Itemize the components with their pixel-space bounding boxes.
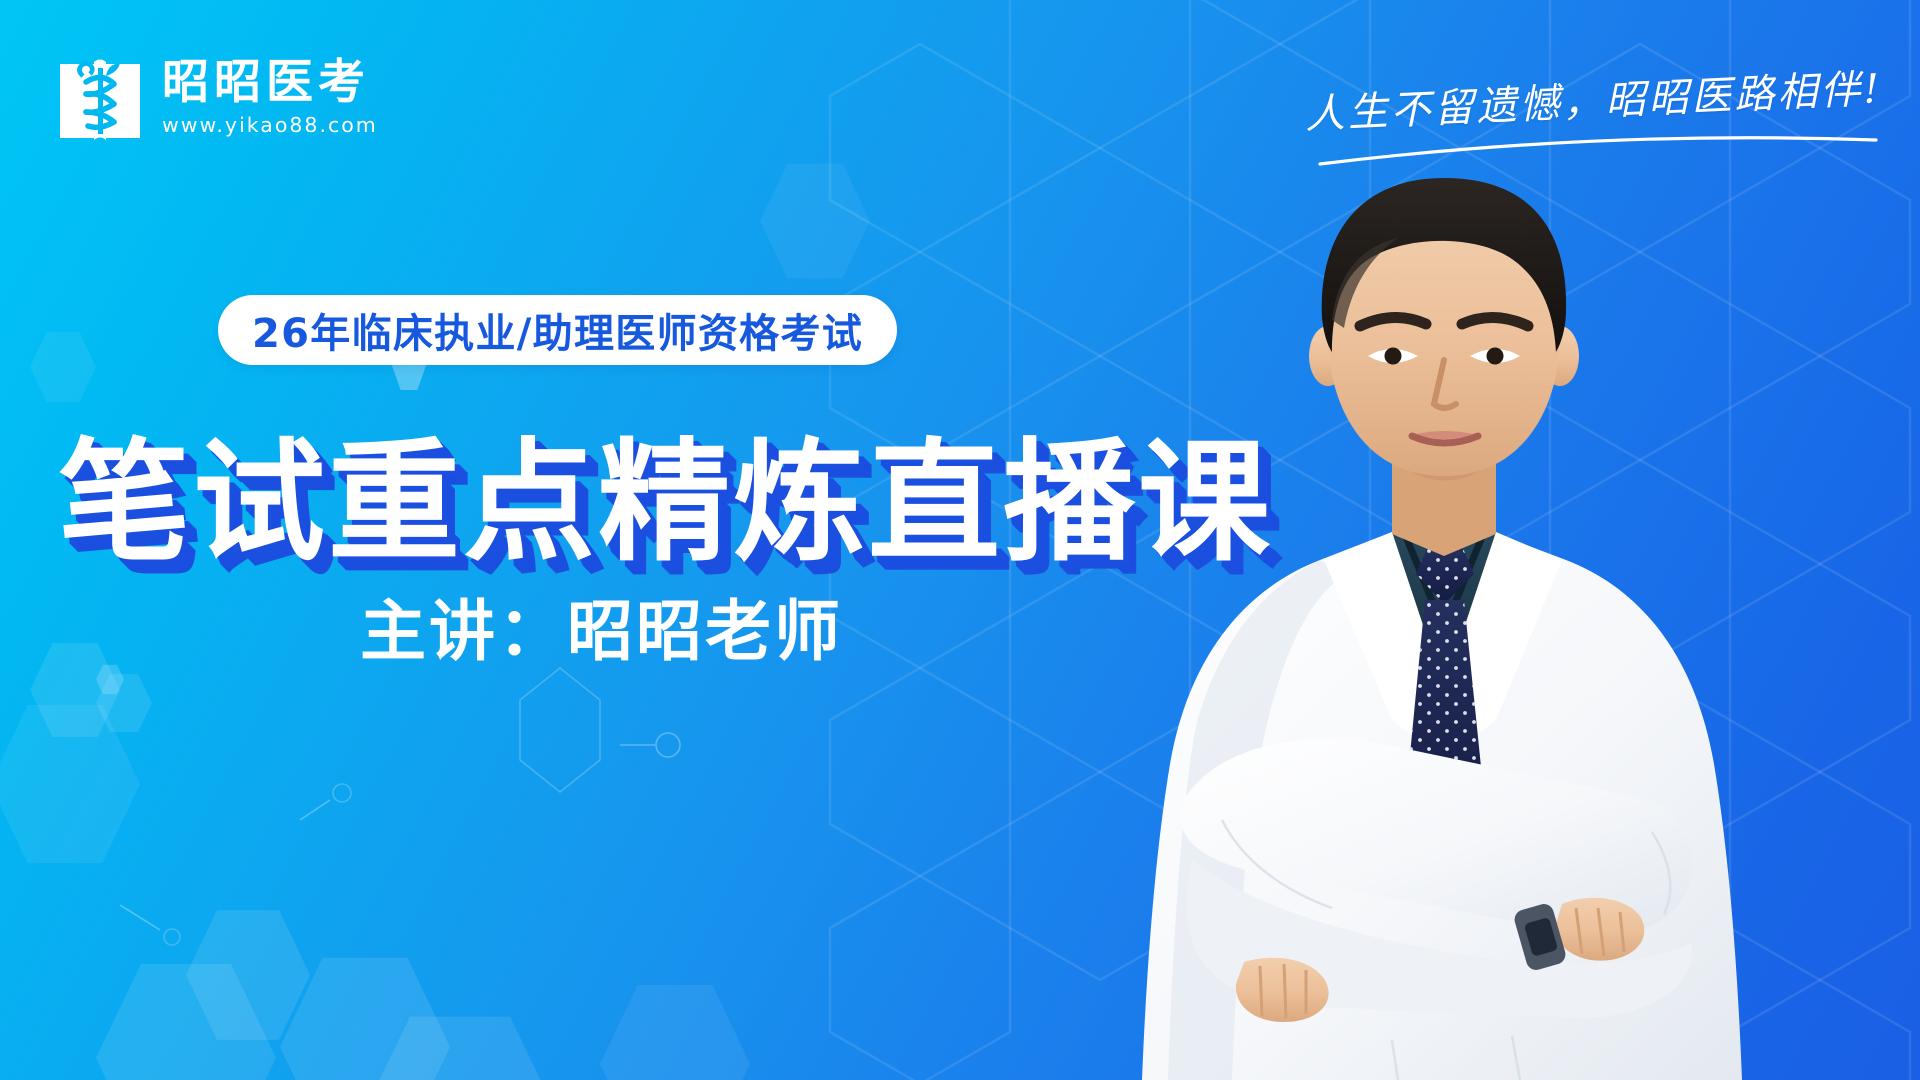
hexagon-decor-12	[186, 906, 310, 1044]
course-promo-banner: 昭昭医考 www.yikao88.com 人生不留遗憾，昭昭医路相伴! 26年临…	[0, 0, 1920, 1080]
hexagon-decor-15	[0, 700, 140, 868]
hexagon-decor-14	[280, 952, 450, 1080]
brand-slogan: 人生不留遗憾，昭昭医路相伴!	[1304, 56, 1882, 114]
hexagon-decor-13	[96, 958, 276, 1080]
hexagon-decor-16	[360, 1010, 560, 1080]
hexagon-decor-1	[30, 640, 120, 740]
brand-logo[interactable]: 昭昭医考 www.yikao88.com	[56, 52, 378, 144]
logo-brand-name: 昭昭医考	[162, 59, 378, 107]
instructor-portrait	[1092, 160, 1792, 1080]
hexagon-decor-17	[600, 980, 750, 1080]
logo-wordmark: 昭昭医考 www.yikao88.com	[162, 59, 378, 138]
hexagon-decor-19	[760, 160, 870, 282]
page-title: 笔试重点精炼直播课	[58, 396, 1273, 587]
hexagon-decor-18	[30, 330, 96, 404]
slogan-text: 人生不留遗憾，昭昭医路相伴!	[1303, 56, 1883, 140]
hexagon-decor-11	[96, 672, 152, 734]
speaker-label: 主讲：昭昭老师	[360, 578, 843, 674]
logo-website-url: www.yikao88.com	[162, 113, 378, 137]
exam-badge[interactable]: 26年临床执业/助理医师资格考试	[218, 295, 897, 365]
exam-badge-label: 26年临床执业/助理医师资格考试	[252, 301, 863, 359]
caduceus-book-icon	[56, 52, 144, 144]
hexagon-decor-2	[96, 664, 124, 695]
